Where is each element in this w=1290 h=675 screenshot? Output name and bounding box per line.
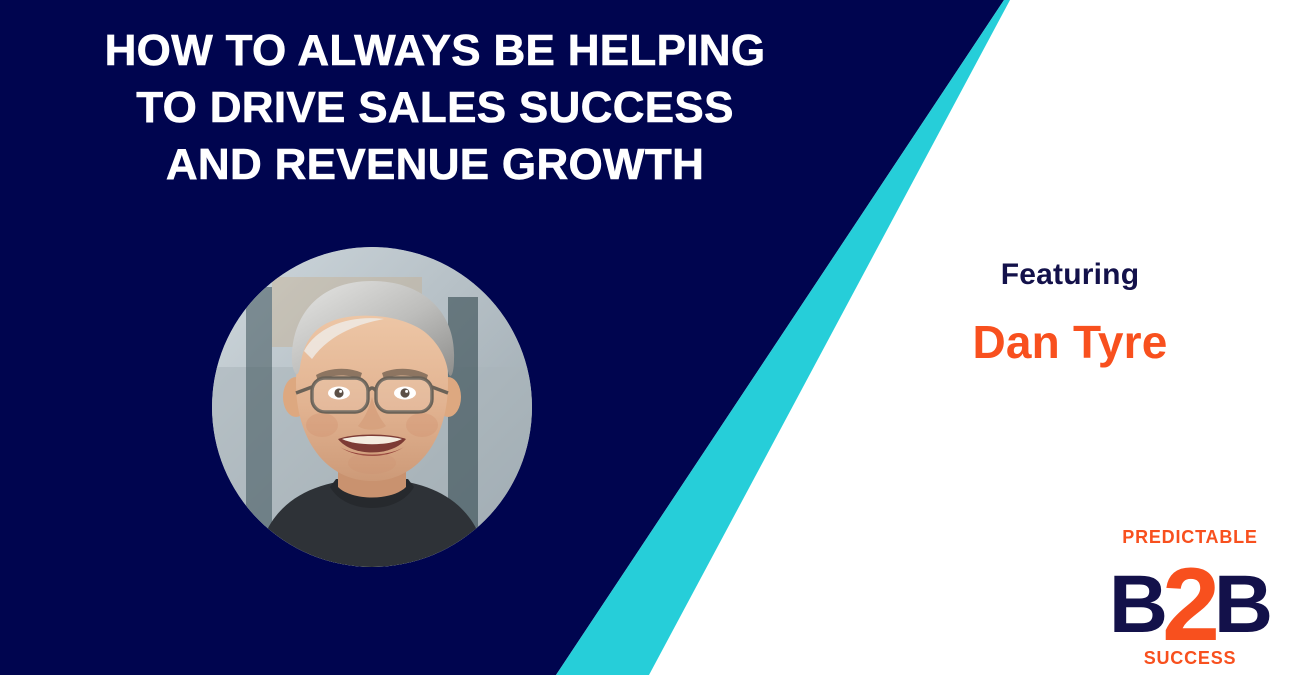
title-line-3: AND REVENUE GROWTH [0, 136, 870, 193]
speaker-photo-illustration [212, 247, 532, 567]
logo-letter-b-left: B [1109, 559, 1166, 650]
brand-logo: PREDICTABLE B2B SUCCESS [1105, 528, 1275, 667]
speaker-name: Dan Tyre [900, 317, 1240, 368]
title-line-1: HOW TO ALWAYS BE HELPING [0, 22, 870, 79]
title-line-2: TO DRIVE SALES SUCCESS [0, 79, 870, 136]
podcast-episode-cover: HOW TO ALWAYS BE HELPING TO DRIVE SALES … [0, 0, 1290, 675]
logo-b2b-mark: B2B [1105, 548, 1275, 647]
page-title: HOW TO ALWAYS BE HELPING TO DRIVE SALES … [0, 22, 870, 194]
featuring-label: Featuring [900, 258, 1240, 291]
featuring-block: Featuring Dan Tyre [900, 258, 1240, 368]
logo-numeral-two: 2 [1162, 547, 1218, 663]
speaker-avatar [212, 247, 532, 567]
logo-letter-b-right: B [1214, 559, 1271, 650]
logo-top-text: PREDICTABLE [1105, 528, 1275, 546]
